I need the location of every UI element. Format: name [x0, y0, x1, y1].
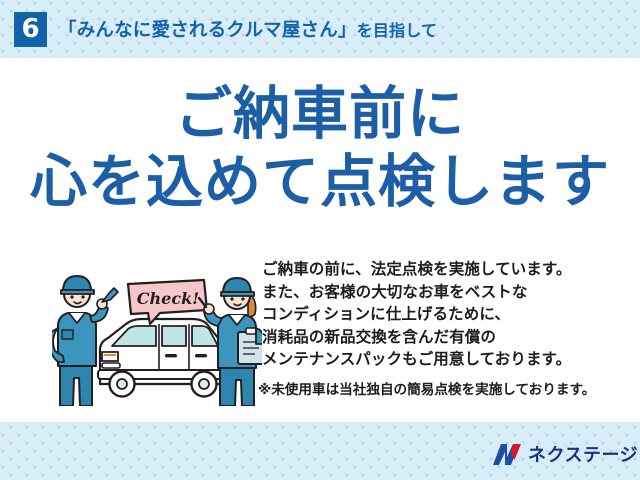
body-line: また、お客様の大切なお車をベストな	[262, 281, 632, 304]
body-copy: ご納車の前に、法定点検を実施しています。 また、お客様の大切なお車をベストな コ…	[262, 258, 632, 371]
headline-line-2: 心を込めて点検します	[0, 152, 640, 212]
headline: ご納車前に 心を込めて点検します	[0, 84, 640, 213]
body-line: コンディションに仕上げるために、	[262, 303, 632, 326]
body-footnote: ※未使用車は当社独自の簡易点検を実施しております。	[258, 378, 633, 398]
nextage-n-mark	[492, 443, 522, 466]
header-title-main: 「みんなに愛されるクルマ屋さん」	[58, 16, 357, 42]
check-bubble-label: Check!	[137, 289, 199, 308]
content-panel: ご納車前に 心を込めて点検します	[0, 58, 640, 422]
page-background: 6 「みんなに愛されるクルマ屋さん」 を目指して ご納車前に 心を込めて点検しま…	[0, 0, 640, 480]
headline-line-1: ご納車前に	[0, 84, 640, 144]
section-number-badge: 6	[14, 12, 47, 47]
van-illustration	[98, 319, 226, 397]
check-speech-bubble: Check!	[128, 280, 207, 324]
nextage-logo: ネクステージ	[492, 441, 638, 467]
header-title: 「みんなに愛されるクルマ屋さん」 を目指して	[58, 16, 437, 42]
body-line: メンテナンスパックもご用意しております。	[262, 348, 632, 371]
mechanics-illustration: Check!	[52, 266, 262, 406]
nextage-logo-text: ネクステージ	[528, 441, 638, 467]
body-line: 消耗品の新品交換を含んだ有償の	[262, 326, 632, 349]
body-line: ご納車の前に、法定点検を実施しています。	[262, 258, 632, 281]
header-bar: 6 「みんなに愛されるクルマ屋さん」 を目指して	[0, 0, 640, 58]
header-title-tail: を目指して	[357, 17, 438, 41]
